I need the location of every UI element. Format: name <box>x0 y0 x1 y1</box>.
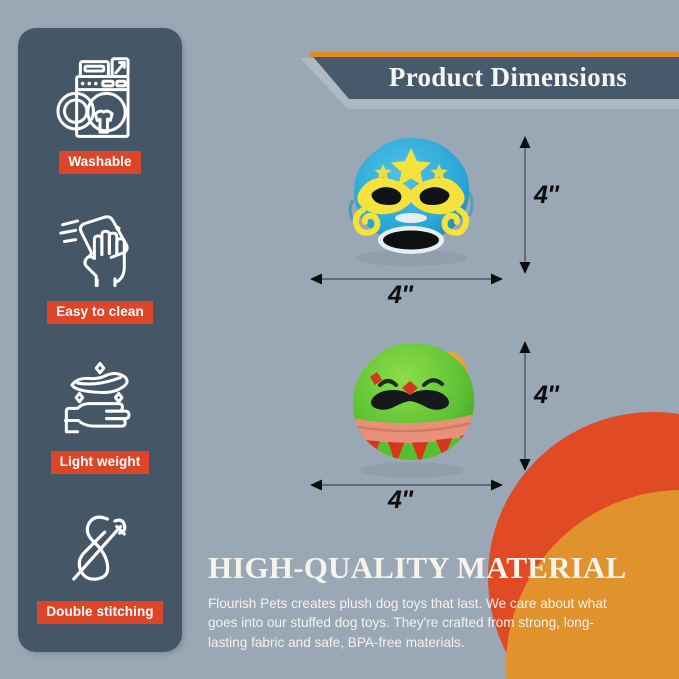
banner-accent-stripe <box>309 52 679 57</box>
infographic-canvas: Washable <box>0 0 679 679</box>
needle-and-thread-icon <box>52 506 148 592</box>
feature-label-double-stitching: Double stitching <box>37 601 162 624</box>
washing-machine-icon <box>52 56 148 142</box>
dimension-label-width-product-1: 4'' <box>388 281 412 310</box>
dimension-label-height-product-1: 4'' <box>534 181 558 210</box>
banner-body: Product Dimensions <box>309 52 679 99</box>
feature-label-washable: Washable <box>59 151 140 174</box>
product-image-maraca-character-plush <box>338 337 486 481</box>
feature-sidebar: Washable <box>18 28 182 652</box>
banner-title: Product Dimensions <box>361 58 627 93</box>
product-image-luchador-mask-plush <box>333 130 488 270</box>
hand-wiping-cloth-icon <box>52 206 148 292</box>
dimension-arrow-height-product-2 <box>518 341 532 471</box>
dimension-label-height-product-2: 4'' <box>534 381 558 410</box>
feature-light-weight: Light weight <box>18 356 182 474</box>
material-section: HIGH-QUALITY MATERIAL Flourish Pets crea… <box>208 552 658 653</box>
feature-easy-to-clean: Easy to clean <box>18 206 182 324</box>
material-body-text: Flourish Pets creates plush dog toys tha… <box>208 594 632 653</box>
material-heading: HIGH-QUALITY MATERIAL <box>208 552 658 585</box>
feather-on-hand-icon <box>52 356 148 442</box>
feature-double-stitching: Double stitching <box>18 506 182 624</box>
feature-washable: Washable <box>18 56 182 174</box>
dimension-arrow-height-product-1 <box>518 136 532 274</box>
feature-label-easy-to-clean: Easy to clean <box>47 301 153 324</box>
product-dimensions-banner: Product Dimensions <box>300 52 679 103</box>
feature-label-light-weight: Light weight <box>51 451 150 474</box>
dimension-label-width-product-2: 4'' <box>388 486 412 515</box>
